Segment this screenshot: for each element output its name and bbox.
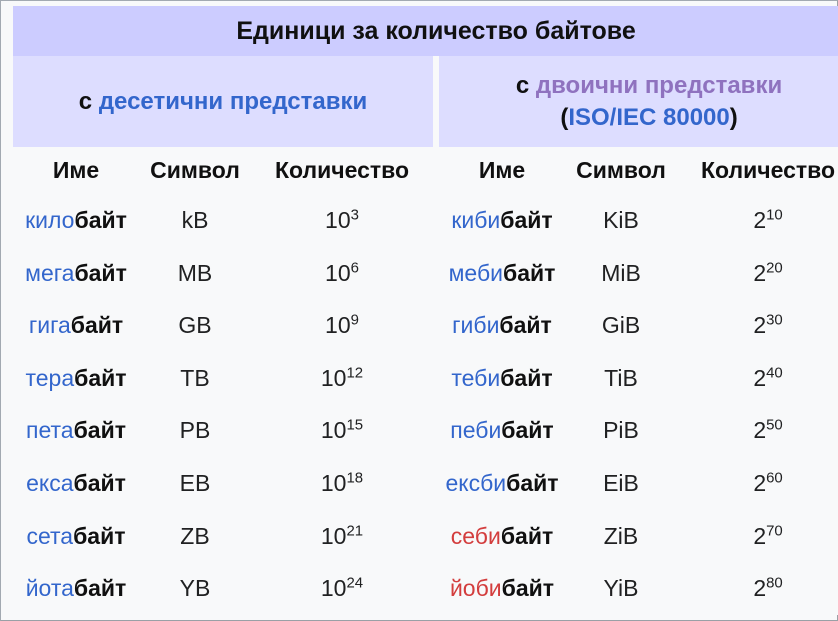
unit-prefix-link[interactable]: сета [26, 523, 73, 549]
iso-iec-standard-link[interactable]: ISO/IEC 80000 [568, 104, 729, 131]
quantity-base: 10 [325, 207, 351, 233]
col-header-symbol-decimal: Символ [145, 147, 245, 194]
col-header-quantity-decimal: Количество [251, 147, 433, 194]
unit-name-decimal: ексабайт [13, 457, 139, 510]
quantity-exponent: 20 [766, 259, 783, 276]
quantity-base: 10 [321, 470, 347, 496]
unit-symbol-decimal: YB [145, 562, 245, 615]
quantity-exponent: 70 [766, 522, 783, 539]
unit-suffix-label: байт [506, 470, 558, 496]
unit-prefix-link[interactable]: йоби [450, 575, 502, 601]
col-header-symbol-binary: Символ [571, 147, 671, 194]
unit-suffix-label: байт [502, 575, 554, 601]
binary-prefix-word: с [516, 72, 529, 99]
col-header-name-decimal: Име [13, 147, 139, 194]
quantity-exponent: 10 [766, 206, 783, 223]
unit-quantity-binary: 260 [677, 457, 838, 510]
binary-group-header: с двоични представки (ISO/IEC 80000) [439, 56, 838, 146]
quantity-base: 10 [325, 312, 351, 338]
quantity-base: 2 [753, 470, 766, 496]
unit-prefix-link[interactable]: екса [26, 470, 73, 496]
unit-name-binary: пебибайт [439, 405, 565, 458]
quantity-base: 2 [753, 365, 766, 391]
unit-name-binary: ексбибайт [439, 457, 565, 510]
unit-prefix-link[interactable]: киби [451, 207, 500, 233]
unit-prefix-link[interactable]: меби [449, 260, 503, 286]
unit-name-decimal: килобайт [13, 194, 139, 247]
table-row: килобайтkB103кибибайтKiB210 [13, 194, 838, 247]
unit-prefix-link[interactable]: тера [25, 365, 74, 391]
unit-prefix-link[interactable]: ексби [445, 470, 506, 496]
unit-quantity-binary: 240 [677, 352, 838, 405]
unit-symbol-binary: MiB [571, 247, 671, 300]
quantity-exponent: 24 [346, 575, 363, 592]
unit-symbol-binary: YiB [571, 562, 671, 615]
unit-prefix-link[interactable]: йота [26, 575, 74, 601]
col-header-name-binary: Име [439, 147, 565, 194]
table-row: мегабайтMB106мебибайтMiB220 [13, 247, 838, 300]
unit-prefix-link[interactable]: мега [25, 260, 74, 286]
unit-suffix-label: байт [500, 207, 552, 233]
unit-symbol-binary: KiB [571, 194, 671, 247]
unit-name-binary: тебибайт [439, 352, 565, 405]
unit-suffix-label: байт [500, 365, 552, 391]
quantity-exponent: 18 [346, 469, 363, 486]
title-row: Единици за количество байтове [13, 6, 838, 56]
unit-name-decimal: петабайт [13, 405, 139, 458]
unit-name-decimal: терабайт [13, 352, 139, 405]
unit-symbol-decimal: EB [145, 457, 245, 510]
quantity-base: 10 [321, 523, 347, 549]
unit-prefix-link[interactable]: теби [451, 365, 500, 391]
unit-quantity-binary: 220 [677, 247, 838, 300]
quantity-base: 2 [753, 417, 766, 443]
quantity-base: 2 [753, 575, 766, 601]
quantity-exponent: 40 [766, 364, 783, 381]
quantity-exponent: 9 [351, 312, 359, 329]
paren-close: ) [730, 104, 738, 131]
unit-name-binary: кибибайт [439, 194, 565, 247]
unit-suffix-label: байт [74, 417, 126, 443]
unit-suffix-label: байт [74, 575, 126, 601]
quantity-base: 10 [321, 417, 347, 443]
table-row: терабайтTB1012тебибайтTiB240 [13, 352, 838, 405]
unit-name-decimal: йотабайт [13, 562, 139, 615]
decimal-group-header: с десетични представки [13, 56, 433, 146]
byte-units-infobox: Единици за количество байтове с десетичн… [0, 0, 838, 621]
unit-symbol-binary: EiB [571, 457, 671, 510]
decimal-prefixes-link[interactable]: десетични представки [99, 88, 367, 115]
unit-suffix-label: байт [74, 260, 126, 286]
unit-quantity-decimal: 109 [251, 299, 433, 352]
unit-quantity-decimal: 1018 [251, 457, 433, 510]
quantity-exponent: 3 [351, 206, 359, 223]
quantity-exponent: 15 [346, 417, 363, 434]
quantity-base: 2 [753, 207, 766, 233]
table-row: ексабайтEB1018ексбибайтEiB260 [13, 457, 838, 510]
quantity-exponent: 30 [766, 312, 783, 329]
quantity-exponent: 80 [766, 575, 783, 592]
unit-name-binary: себибайт [439, 510, 565, 563]
unit-symbol-binary: ZiB [571, 510, 671, 563]
unit-quantity-binary: 280 [677, 562, 838, 615]
unit-symbol-decimal: MB [145, 247, 245, 300]
table-row: йотабайтYB1024йобибайтYiB280 [13, 562, 838, 615]
unit-quantity-decimal: 1015 [251, 405, 433, 458]
unit-quantity-binary: 270 [677, 510, 838, 563]
unit-symbol-binary: TiB [571, 352, 671, 405]
table-row: гигабайтGB109гибибайтGiB230 [13, 299, 838, 352]
unit-name-decimal: гигабайт [13, 299, 139, 352]
quantity-base: 10 [321, 575, 347, 601]
quantity-base: 2 [753, 523, 766, 549]
unit-prefix-link[interactable]: гига [29, 312, 71, 338]
decimal-prefix-word: с [79, 88, 92, 115]
unit-quantity-binary: 250 [677, 405, 838, 458]
unit-suffix-label: байт [501, 417, 553, 443]
quantity-exponent: 50 [766, 417, 783, 434]
unit-prefix-link[interactable]: пеби [450, 417, 501, 443]
unit-suffix-label: байт [501, 523, 553, 549]
table-row: сетабайтZB1021себибайтZiB270 [13, 510, 838, 563]
quantity-exponent: 12 [346, 364, 363, 381]
unit-symbol-decimal: PB [145, 405, 245, 458]
col-header-quantity-binary: Количество [677, 147, 838, 194]
group-header-row: с десетични представки с двоични предста… [13, 56, 838, 146]
unit-suffix-label: байт [74, 365, 126, 391]
unit-symbol-decimal: kB [145, 194, 245, 247]
infobox-title: Единици за количество байтове [13, 6, 838, 56]
unit-symbol-decimal: GB [145, 299, 245, 352]
unit-prefix-link[interactable]: пета [26, 417, 74, 443]
table-row: петабайтPB1015пебибайтPiB250 [13, 405, 838, 458]
unit-quantity-decimal: 1021 [251, 510, 433, 563]
unit-prefix-link[interactable]: кило [25, 207, 74, 233]
quantity-exponent: 21 [346, 522, 363, 539]
unit-symbol-decimal: ZB [145, 510, 245, 563]
unit-suffix-label: байт [74, 470, 126, 496]
column-header-row: Име Символ Количество Име Символ Количес… [13, 147, 838, 194]
unit-symbol-binary: GiB [571, 299, 671, 352]
unit-name-decimal: сетабайт [13, 510, 139, 563]
unit-suffix-label: байт [499, 312, 551, 338]
unit-quantity-binary: 230 [677, 299, 838, 352]
binary-prefixes-link[interactable]: двоични представки [536, 72, 782, 99]
byte-units-table: Единици за количество байтове с десетичн… [7, 6, 838, 615]
quantity-exponent: 60 [766, 469, 783, 486]
unit-quantity-binary: 210 [677, 194, 838, 247]
unit-name-decimal: мегабайт [13, 247, 139, 300]
quantity-base: 10 [325, 260, 351, 286]
unit-symbol-binary: PiB [571, 405, 671, 458]
quantity-base: 2 [753, 312, 766, 338]
quantity-base: 10 [321, 365, 347, 391]
unit-suffix-label: байт [71, 312, 123, 338]
unit-name-binary: йобибайт [439, 562, 565, 615]
table-body: Единици за количество байтове с десетичн… [13, 6, 838, 615]
unit-suffix-label: байт [503, 260, 555, 286]
unit-name-binary: гибибайт [439, 299, 565, 352]
unit-name-binary: мебибайт [439, 247, 565, 300]
quantity-exponent: 6 [351, 259, 359, 276]
unit-prefix-link[interactable]: гиби [452, 312, 499, 338]
unit-quantity-decimal: 103 [251, 194, 433, 247]
unit-quantity-decimal: 1012 [251, 352, 433, 405]
quantity-base: 2 [753, 260, 766, 286]
unit-quantity-decimal: 1024 [251, 562, 433, 615]
unit-prefix-link[interactable]: себи [451, 523, 501, 549]
unit-suffix-label: байт [73, 523, 125, 549]
unit-suffix-label: байт [74, 207, 126, 233]
unit-symbol-decimal: TB [145, 352, 245, 405]
unit-quantity-decimal: 106 [251, 247, 433, 300]
